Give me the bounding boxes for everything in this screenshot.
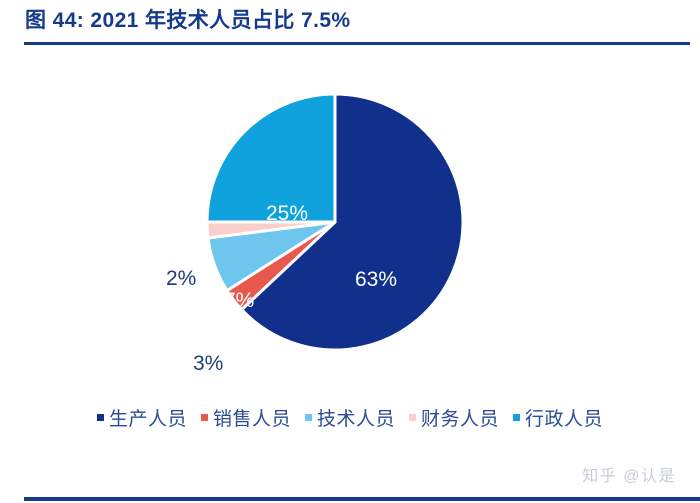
legend-swatch-icon xyxy=(409,414,416,421)
legend-item-生产人员[interactable]: 生产人员 xyxy=(97,404,187,431)
figure-header: 图 44: 2021 年技术人员占比 7.5% xyxy=(0,0,700,52)
legend-swatch-icon xyxy=(513,414,520,421)
legend-item-行政人员[interactable]: 行政人员 xyxy=(513,404,603,431)
footer-divider xyxy=(24,497,700,501)
legend-swatch-icon xyxy=(97,414,104,421)
legend-item-技术人员[interactable]: 技术人员 xyxy=(305,404,395,431)
chart-legend: 生产人员销售人员技术人员财务人员行政人员 xyxy=(0,400,700,434)
pie-slice-行政人员[interactable] xyxy=(207,94,335,222)
pie-label-销售人员: 3% xyxy=(193,352,223,376)
pie-label-财务人员: 2% xyxy=(166,267,196,291)
legend-item-财务人员[interactable]: 财务人员 xyxy=(409,404,499,431)
pie-chart: 63% 3% 7% 2% 25% xyxy=(0,52,700,392)
legend-item-label: 技术人员 xyxy=(317,404,395,431)
legend-item-label: 销售人员 xyxy=(213,404,291,431)
legend-item-label: 行政人员 xyxy=(525,404,603,431)
legend-item-销售人员[interactable]: 销售人员 xyxy=(201,404,291,431)
watermark: 知乎 @认是 xyxy=(582,462,676,486)
legend-item-label: 生产人员 xyxy=(109,404,187,431)
legend-swatch-icon xyxy=(305,414,312,421)
title-divider xyxy=(24,42,690,45)
legend-swatch-icon xyxy=(201,414,208,421)
pie-graphic xyxy=(206,93,464,351)
pie-svg xyxy=(206,93,464,351)
page-title: 图 44: 2021 年技术人员占比 7.5% xyxy=(25,4,350,34)
legend-item-label: 财务人员 xyxy=(421,404,499,431)
